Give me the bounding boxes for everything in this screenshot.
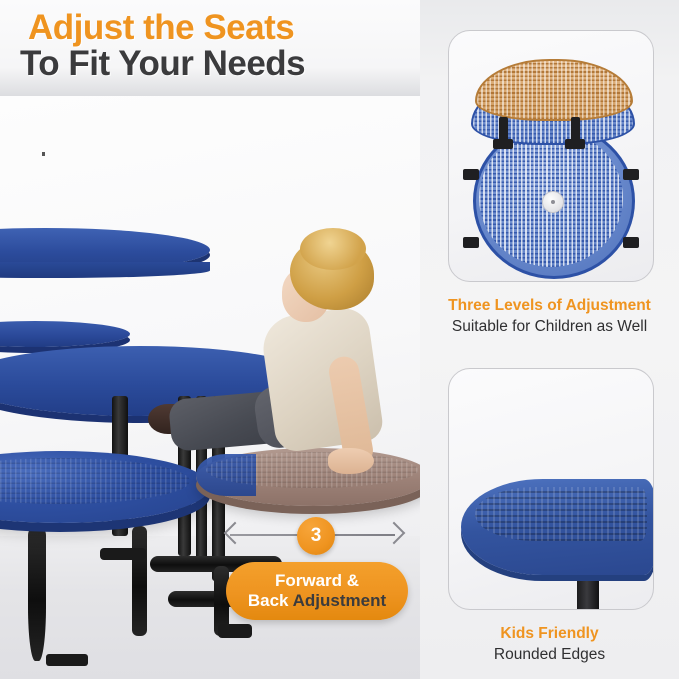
seat-position-adjusted bbox=[475, 59, 633, 121]
main-product-photo: 3 Forward & Back Adjustment bbox=[0, 96, 420, 679]
caption-three-levels: Three Levels of Adjustment Suitable for … bbox=[420, 297, 679, 336]
arrow-head-right-icon bbox=[383, 522, 406, 545]
frame-bracket bbox=[100, 548, 146, 560]
seat-closeup-mesh bbox=[475, 487, 647, 541]
header-band: Adjust the Seats To Fit Your Needs bbox=[0, 0, 420, 96]
level-badge: 3 bbox=[297, 517, 335, 555]
caption-kids-friendly: Kids Friendly Rounded Edges bbox=[420, 625, 679, 664]
mount-bracket bbox=[463, 169, 479, 180]
infographic-canvas: Adjust the Seats To Fit Your Needs bbox=[0, 0, 679, 679]
frame-tube bbox=[132, 526, 147, 636]
caption-dark: Suitable for Children as Well bbox=[420, 318, 679, 336]
arrow-head-left-icon bbox=[224, 522, 247, 545]
child-hand bbox=[328, 448, 374, 474]
mount-bracket bbox=[623, 169, 639, 180]
frame-tube-left bbox=[28, 526, 46, 661]
child-figure bbox=[150, 216, 410, 481]
pill-line2: Back Adjustment bbox=[248, 591, 386, 611]
rear-seat bbox=[0, 321, 130, 347]
caption-accent: Kids Friendly bbox=[420, 625, 679, 643]
frame-foot bbox=[46, 654, 88, 666]
pill-line2-strong: Back bbox=[248, 591, 289, 610]
pill-line1: Forward & bbox=[275, 571, 359, 591]
page-title-line1: Adjust the Seats bbox=[28, 8, 294, 48]
inset-three-levels bbox=[448, 30, 654, 282]
caption-dark: Rounded Edges bbox=[420, 646, 679, 664]
right-column: Three Levels of Adjustment Suitable for … bbox=[420, 0, 679, 679]
seat-support-clamp bbox=[493, 139, 513, 149]
inset-kids-friendly bbox=[448, 368, 654, 610]
forward-back-adjustment-label: Forward & Back Adjustment bbox=[226, 562, 408, 620]
mount-bracket bbox=[623, 237, 639, 248]
frame-foot bbox=[218, 624, 252, 638]
child-hair-top bbox=[300, 228, 366, 270]
page-title-line2: To Fit Your Needs bbox=[20, 44, 305, 84]
image-speck bbox=[42, 152, 45, 156]
center-hub-icon bbox=[542, 191, 564, 213]
pill-line2-rest: Adjustment bbox=[293, 591, 387, 610]
seat-support-clamp bbox=[565, 139, 585, 149]
adjustment-arrow: 3 bbox=[220, 521, 405, 551]
caption-accent: Three Levels of Adjustment bbox=[420, 297, 679, 315]
mount-bracket bbox=[463, 237, 479, 248]
